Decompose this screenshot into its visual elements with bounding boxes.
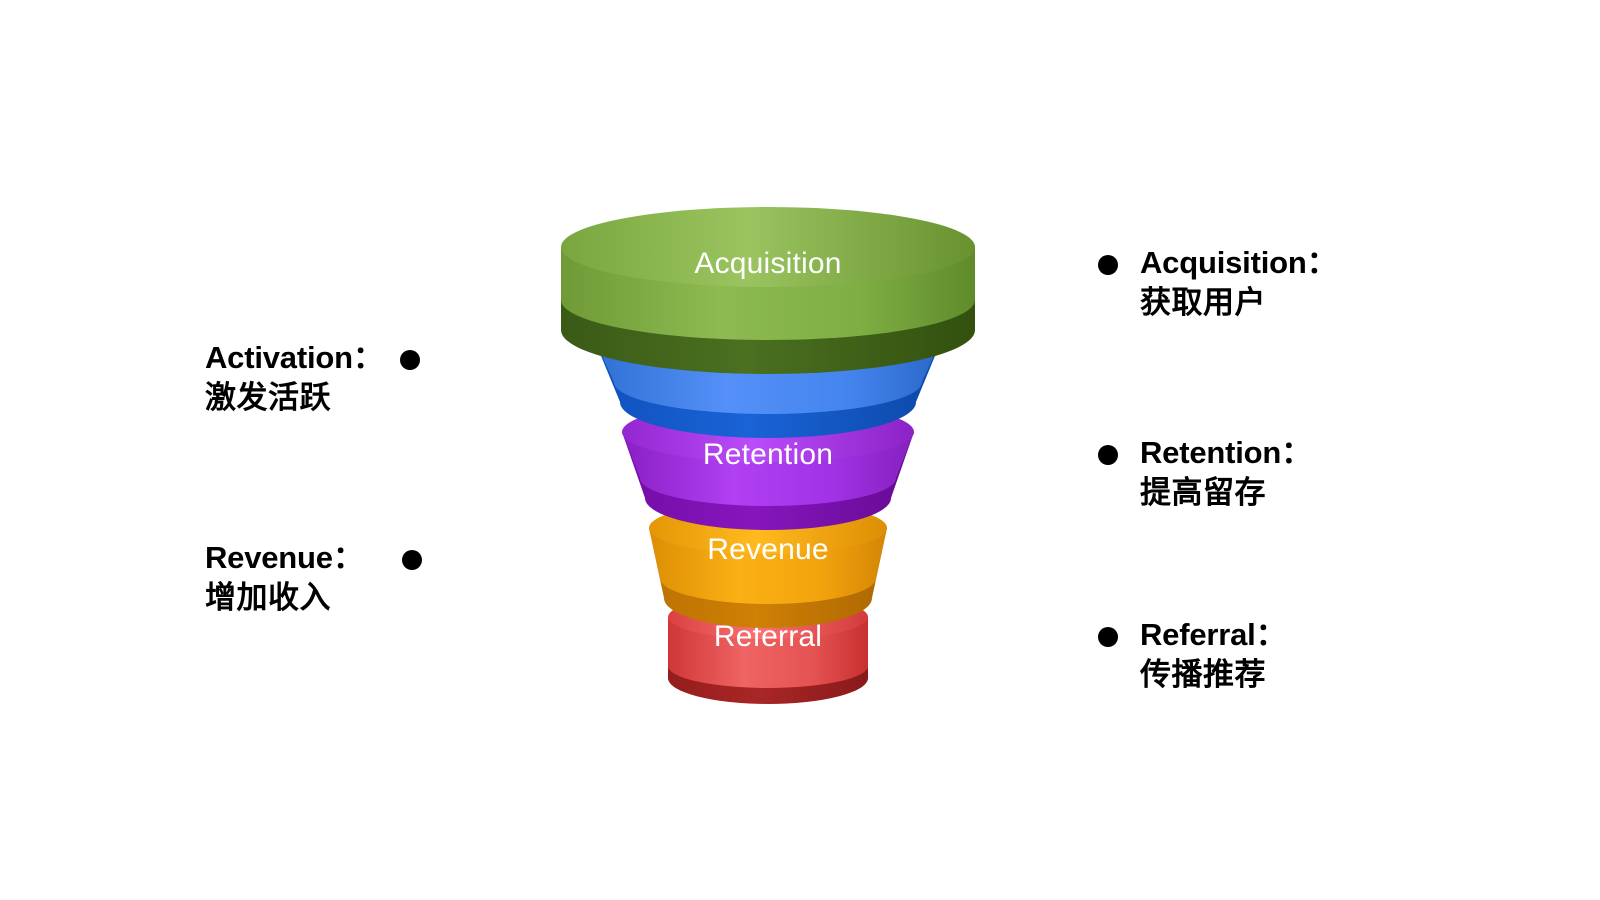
callout-acquisition[interactable]: Acquisition： 获取用户: [1140, 243, 1337, 322]
funnel-stage-acquisition[interactable]: Acquisition: [561, 207, 975, 374]
callout-acquisition-en: Acquisition：: [1140, 243, 1337, 283]
connector-dot-acquisition[interactable]: [1098, 255, 1118, 275]
callout-retention-cn: 提高留存: [1140, 473, 1312, 513]
funnel-label-retention: Retention: [703, 438, 833, 471]
callout-revenue-cn: 增加收入: [205, 578, 364, 618]
callout-acquisition-cn: 获取用户: [1140, 283, 1337, 323]
callout-revenue-en: Revenue：: [205, 538, 364, 578]
callout-activation-en: Activation：: [205, 338, 384, 378]
callout-activation[interactable]: Activation： 激发活跃: [205, 338, 384, 417]
connector-dot-activation[interactable]: [400, 350, 420, 370]
callout-referral-cn: 传播推荐: [1140, 655, 1286, 695]
connector-dot-retention[interactable]: [1098, 445, 1118, 465]
aarrr-funnel-diagram: Referral Revenue Retention Activation: [0, 0, 1600, 900]
callout-referral-en: Referral：: [1140, 615, 1286, 655]
callout-revenue[interactable]: Revenue： 增加收入: [205, 538, 364, 617]
callout-activation-cn: 激发活跃: [205, 378, 384, 418]
callout-retention-en: Retention：: [1140, 433, 1312, 473]
funnel-label-revenue: Revenue: [707, 533, 829, 566]
callout-referral[interactable]: Referral： 传播推荐: [1140, 615, 1286, 694]
callout-retention[interactable]: Retention： 提高留存: [1140, 433, 1312, 512]
diagram-canvas: Referral Revenue Retention Activation: [0, 0, 1600, 900]
connector-dot-referral[interactable]: [1098, 627, 1118, 647]
connector-dot-revenue[interactable]: [402, 550, 422, 570]
funnel-label-acquisition: Acquisition: [694, 247, 841, 280]
